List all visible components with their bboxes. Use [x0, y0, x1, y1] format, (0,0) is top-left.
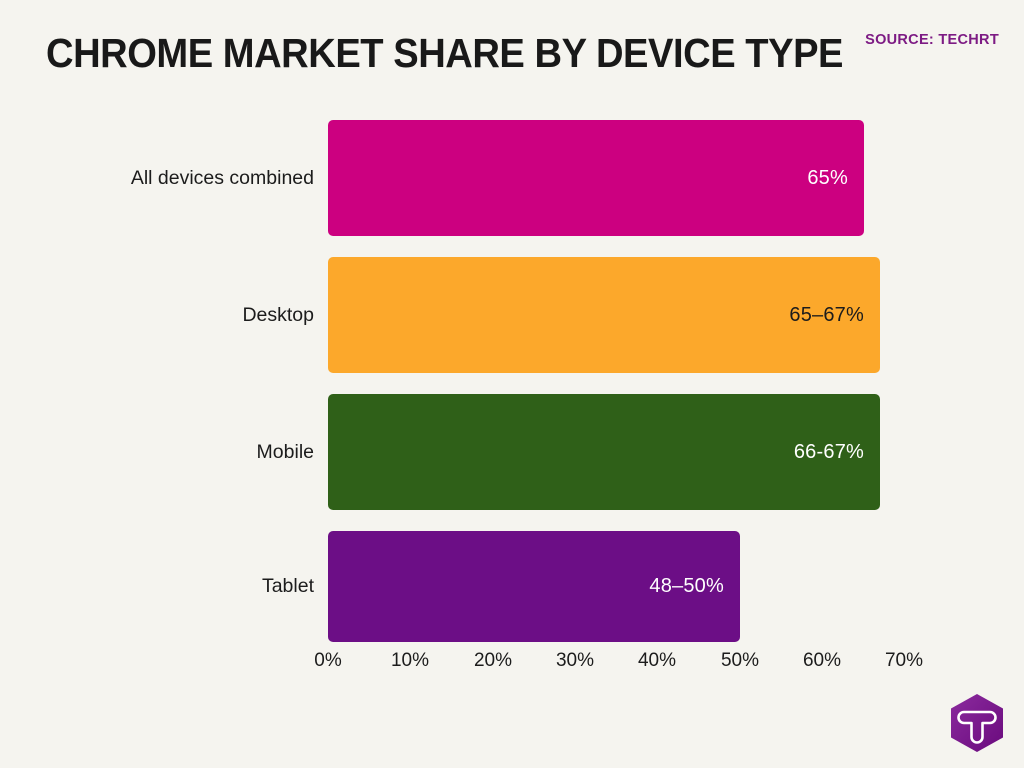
bar-value-label: 65%	[807, 167, 848, 190]
category-label: Desktop	[0, 304, 314, 327]
category-label: All devices combined	[0, 167, 314, 190]
category-label: Tablet	[0, 575, 314, 598]
bar-value-label: 48–50%	[649, 575, 724, 598]
x-tick-label: 20%	[474, 650, 512, 672]
bar-row: Desktop 65–67%	[0, 257, 1024, 373]
x-tick-label: 70%	[885, 650, 923, 672]
bar-tablet[interactable]: 48–50%	[328, 531, 740, 642]
bar-value-label: 65–67%	[789, 304, 864, 327]
x-axis: 0% 10% 20% 30% 40% 50% 60% 70%	[0, 650, 1024, 678]
bar-mobile[interactable]: 66-67%	[328, 394, 880, 510]
bar-row: Tablet 48–50%	[0, 531, 1024, 642]
x-tick-label: 10%	[391, 650, 429, 672]
bar-value-label: 66-67%	[794, 441, 864, 464]
bar-row: All devices combined 65%	[0, 120, 1024, 236]
bar-row: Mobile 66-67%	[0, 394, 1024, 510]
x-tick-label: 60%	[803, 650, 841, 672]
category-label: Mobile	[0, 441, 314, 464]
x-tick-label: 40%	[638, 650, 676, 672]
bar-all-devices-combined[interactable]: 65%	[328, 120, 864, 236]
bar-desktop[interactable]: 65–67%	[328, 257, 880, 373]
x-tick-label: 50%	[721, 650, 759, 672]
techrt-hexagon-logo	[948, 692, 1006, 754]
x-tick-label: 0%	[314, 650, 341, 672]
x-tick-label: 30%	[556, 650, 594, 672]
